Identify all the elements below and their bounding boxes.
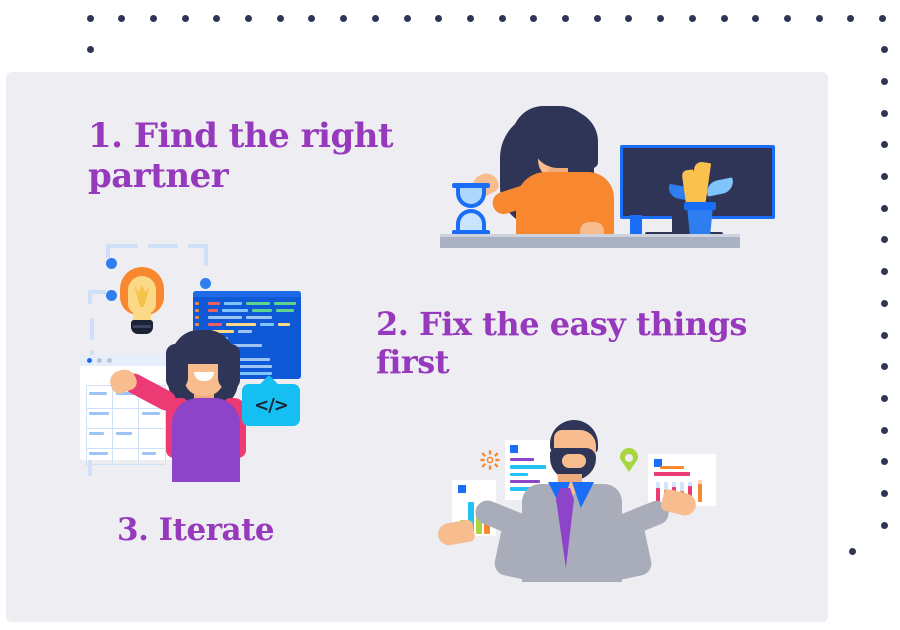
code-badge-label: </> (254, 395, 288, 416)
frame-dot-top (372, 15, 379, 22)
frame-dot-top (752, 15, 759, 22)
frame-dot-top (594, 15, 601, 22)
hair-left (166, 344, 188, 390)
frame-dot-top (245, 15, 252, 22)
frame-dot-top (213, 15, 220, 22)
hourglass-icon (456, 186, 486, 231)
frame-dot-right (881, 427, 888, 434)
frame-dot-right (881, 205, 888, 212)
frame-dot-top (721, 15, 728, 22)
illustration-woman-at-desk (440, 100, 750, 248)
frame-dot-top (277, 15, 284, 22)
map-pin-hole (625, 454, 633, 462)
heading-step-3: 3. Iterate (117, 512, 417, 549)
frame-dot-right (881, 458, 888, 465)
frame-dot-top (118, 15, 125, 22)
gear-icon (480, 450, 500, 470)
frame-dot-right (881, 395, 888, 402)
frame-dot-top (435, 15, 442, 22)
code-badge: </> (242, 384, 300, 426)
browser-dot-2 (97, 358, 102, 363)
frame-dot-right (881, 78, 888, 85)
illustration-juggling-man (430, 412, 730, 582)
frame-dot-top (562, 15, 569, 22)
doc-badge-icon (510, 445, 518, 453)
poster-canvas: </> (0, 0, 900, 630)
frame-dot-top (689, 15, 696, 22)
frame-dot-bottom (849, 548, 856, 555)
frame-dot-top (657, 15, 664, 22)
frame-dot-top (404, 15, 411, 22)
heading-step-2: 2. Fix the easy things first (376, 306, 776, 382)
illustration-developer-woman: </> (80, 240, 322, 482)
plant-pot-rim (684, 202, 716, 210)
frame-dot-top (87, 15, 94, 22)
browser-dot-1 (87, 358, 92, 363)
left-hand (436, 519, 475, 547)
frame-dot-top (816, 15, 823, 22)
frame-dot-right (881, 522, 888, 529)
frame-dot-top (499, 15, 506, 22)
hair-right (218, 344, 240, 390)
hourglass-top-bar (452, 183, 490, 188)
chin (562, 454, 586, 468)
frame-dot-top (625, 15, 632, 22)
frame-dot-right (881, 173, 888, 180)
frame-dot-right (881, 300, 888, 307)
browser-dot-3 (107, 358, 112, 363)
frame-dot-top (847, 15, 854, 22)
frame-dot-top (784, 15, 791, 22)
card-badge-icon (458, 485, 466, 493)
frame-dot-top (530, 15, 537, 22)
heading-step-1: 1. Find the right partner (88, 116, 418, 196)
frame-dot-top (879, 15, 886, 22)
frame-dot-right (881, 332, 888, 339)
frame-dot-left (87, 46, 94, 53)
frame-dot-top (150, 15, 157, 22)
code-editor-titlebar (193, 291, 301, 297)
frame-dot-right (881, 363, 888, 370)
frame-dot-top (340, 15, 347, 22)
frame-dot-top (467, 15, 474, 22)
frame-dot-top (308, 15, 315, 22)
lightbulb-cap-line (133, 325, 151, 328)
torso-purple-top (172, 398, 240, 482)
frame-dot-top (182, 15, 189, 22)
desk-surface (440, 237, 740, 248)
frame-dot-right (881, 236, 888, 243)
frame-dot-right (881, 46, 888, 53)
frame-dot-right (881, 141, 888, 148)
frame-dot-right (881, 268, 888, 275)
frame-dot-right (881, 490, 888, 497)
frame-dot-right (881, 110, 888, 117)
